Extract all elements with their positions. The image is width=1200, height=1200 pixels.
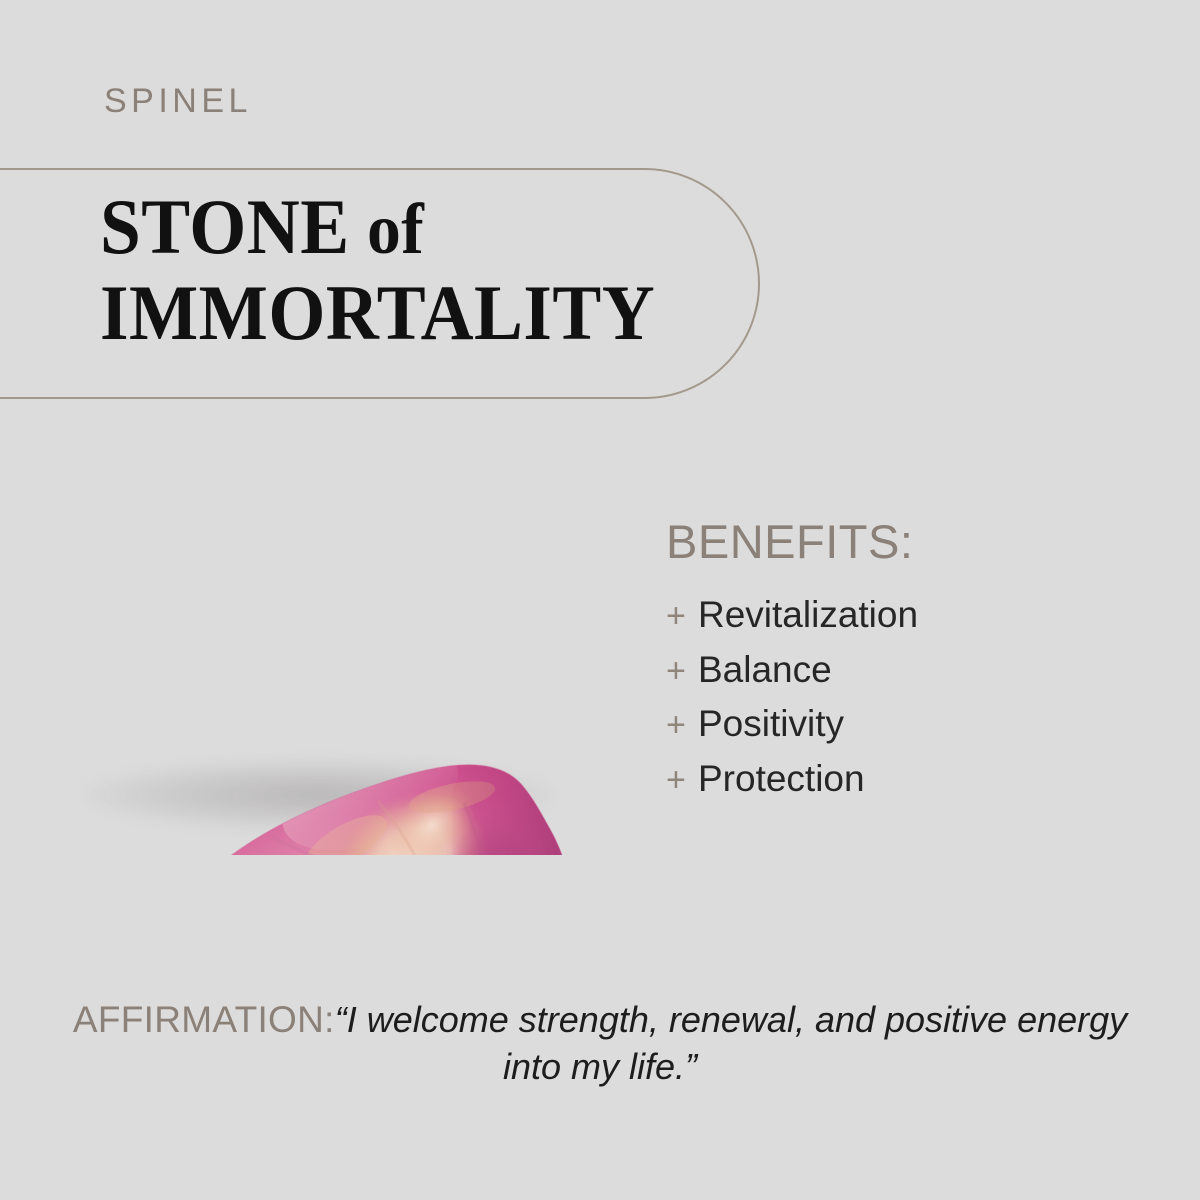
plus-icon: + [666, 759, 698, 803]
title-line-2: IMMORTALITY [100, 276, 720, 351]
affirmation-inner: AFFIRMATION:“I welcome strength, renewal… [58, 996, 1142, 1091]
title-word-stone: STONE [100, 183, 350, 270]
plus-icon: + [666, 650, 698, 694]
plus-icon: + [666, 704, 698, 748]
title-line-1: STONE of [100, 190, 720, 265]
affirmation-label: AFFIRMATION: [73, 999, 335, 1040]
page-title: STONE of IMMORTALITY [100, 190, 760, 351]
benefit-label: Protection [698, 755, 865, 802]
stone-category-label: SPINEL [104, 84, 252, 118]
benefit-item: + Protection [666, 755, 1136, 803]
benefit-item: + Positivity [666, 700, 1136, 748]
plus-icon: + [666, 595, 698, 639]
gemstone-info-card: SPINEL STONE of IMMORTALITY [0, 0, 1200, 1200]
benefits-heading: BENEFITS: [666, 518, 1136, 565]
benefit-item: + Balance [666, 646, 1136, 694]
affirmation-section: AFFIRMATION:“I welcome strength, renewal… [0, 996, 1200, 1091]
benefit-label: Positivity [698, 700, 844, 747]
spinel-crystal-icon [60, 405, 580, 855]
stone-image-container [60, 405, 580, 855]
benefits-section: BENEFITS: + Revitalization + Balance + P… [666, 518, 1136, 809]
benefit-item: + Revitalization [666, 591, 1136, 639]
title-word-of-text: of [367, 189, 424, 269]
title-word-of [350, 189, 367, 269]
benefit-label: Balance [698, 646, 832, 693]
affirmation-quote: “I welcome strength, renewal, and positi… [335, 999, 1127, 1087]
benefit-label: Revitalization [698, 591, 918, 638]
